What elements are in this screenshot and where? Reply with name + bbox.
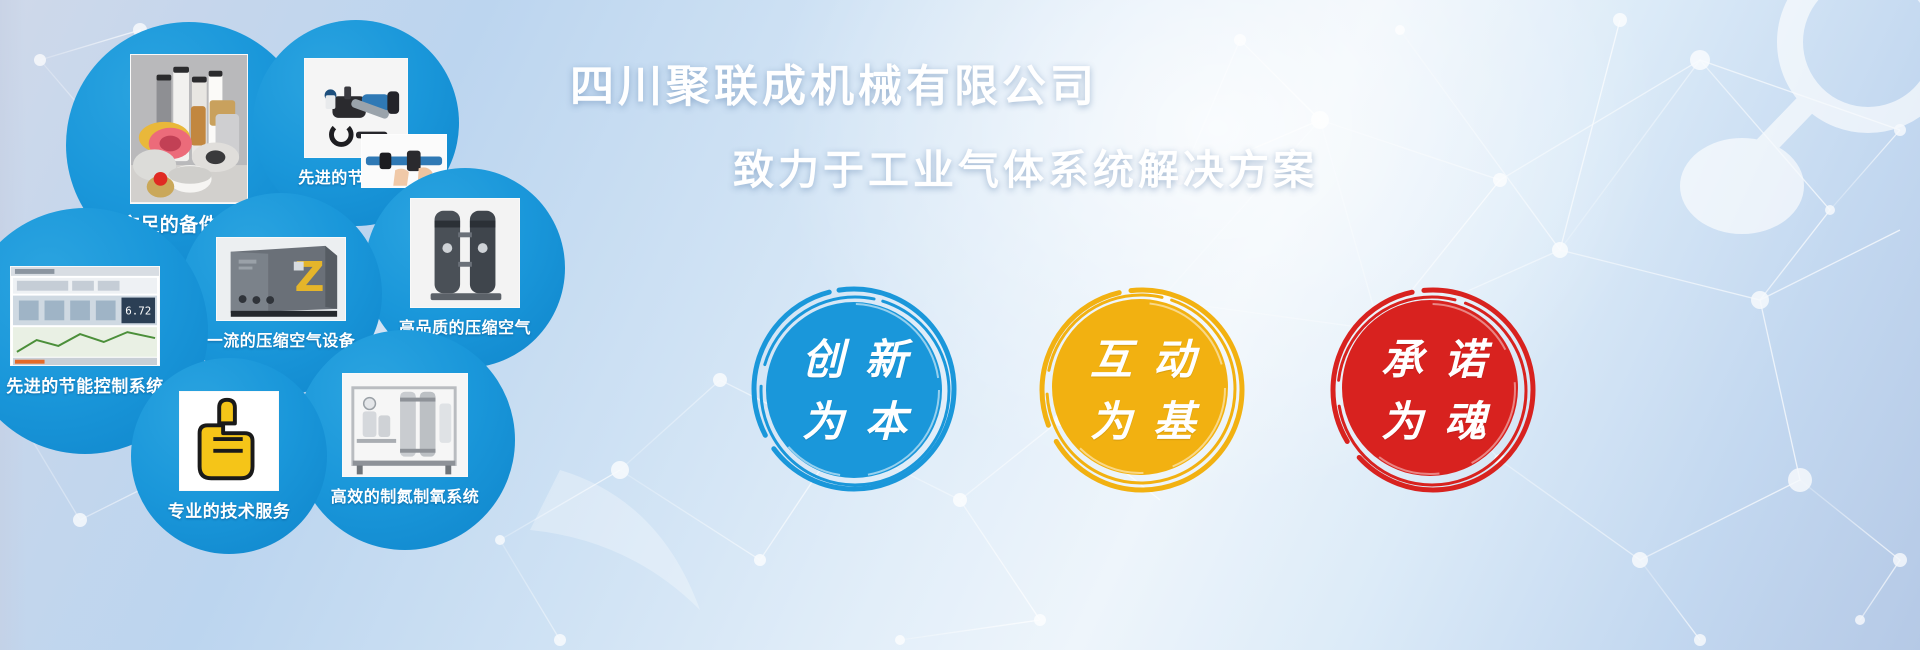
seal-char: 诺 <box>1444 339 1486 381</box>
product-bubble-nitrogen[interactable]: 高效的制氮制氧系统 <box>295 330 515 550</box>
value-seal-innovation[interactable]: 创 新 为 本 <box>747 283 962 498</box>
seal-char: 本 <box>865 401 907 443</box>
company-name-headline: 四川聚联成机械有限公司 <box>570 50 1098 114</box>
seal-characters: 互 动 为 基 <box>1080 329 1206 453</box>
seal-char: 魂 <box>1444 401 1486 443</box>
twin-tower-air-dryer-photo <box>410 198 520 308</box>
thumbs-up-hand-icon <box>179 391 279 491</box>
product-bubble-service[interactable]: 专业的技术服务 <box>131 358 327 554</box>
svg-text:Z: Z <box>295 253 325 301</box>
seal-char: 为 <box>1090 401 1132 443</box>
company-hero-banner: 充足的备件供应 先进的节能管道 <box>0 0 1920 650</box>
seal-characters: 承 诺 为 魂 <box>1371 329 1497 453</box>
nitrogen-oxygen-generator-photo <box>342 373 468 477</box>
product-caption: 一流的压缩空气设备 <box>207 327 356 351</box>
seal-char: 基 <box>1153 401 1195 443</box>
product-caption: 先进的节能控制系统 <box>6 372 164 397</box>
seal-char: 动 <box>1153 339 1195 381</box>
product-caption: 高效的制氮制氧系统 <box>331 483 480 507</box>
air-filter-cartridges-photo <box>130 54 248 204</box>
product-caption: 专业的技术服务 <box>168 497 291 522</box>
value-seal-interaction[interactable]: 互 动 为 基 <box>1035 283 1250 498</box>
seal-char: 承 <box>1381 339 1423 381</box>
seal-char: 新 <box>865 339 907 381</box>
seal-char: 创 <box>802 339 844 381</box>
seal-char: 为 <box>802 401 844 443</box>
value-seal-group: 创 新 为 本 互 动 为 基 <box>735 283 1845 643</box>
svg-text:6.72: 6.72 <box>125 304 151 317</box>
screw-air-compressor-photo: Z <box>216 237 346 321</box>
seal-char: 为 <box>1381 401 1423 443</box>
value-seal-commitment[interactable]: 承 诺 为 魂 <box>1326 283 1541 498</box>
seal-characters: 创 新 为 本 <box>792 329 918 453</box>
company-slogan-subline: 致力于工业气体系统解决方案 <box>733 136 1318 196</box>
seal-char: 互 <box>1090 339 1132 381</box>
control-system-hmi-screen: 6.72 <box>10 266 160 366</box>
